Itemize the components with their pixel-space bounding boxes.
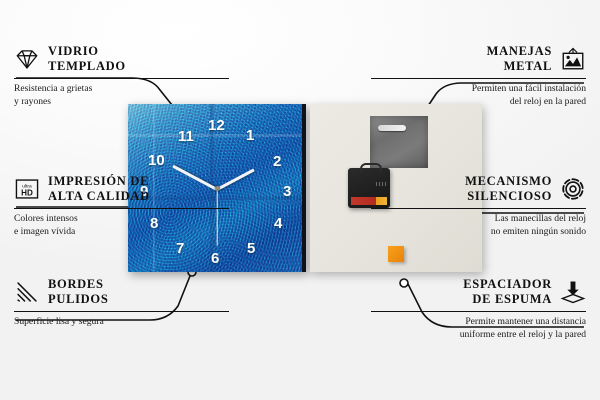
feature-title: IMPRESIÓN DE ALTA CALIDAD xyxy=(48,174,150,205)
feature-description: Superficie lisa y segura xyxy=(14,312,229,328)
feature-bordes-pulidos: BORDES PULIDOS Superficie lisa y segura xyxy=(14,277,229,329)
svg-text:HD: HD xyxy=(21,189,33,198)
clock-numeral-2: 2 xyxy=(273,154,281,169)
clock-numeral-1: 1 xyxy=(246,128,254,143)
feature-title: VIDRIO TEMPLADO xyxy=(48,44,126,75)
hanger-slot xyxy=(378,125,406,131)
clock-numeral-11: 11 xyxy=(178,129,194,144)
clock-numeral-4: 4 xyxy=(274,216,282,231)
feature-description: Colores intensos e imagen vívida xyxy=(14,209,229,238)
diamond-icon xyxy=(14,46,40,72)
polished-edge-icon xyxy=(14,279,40,305)
clock-numeral-12: 12 xyxy=(208,118,225,133)
feature-impresion-alta-calidad: ultra HD IMPRESIÓN DE ALTA CALIDAD Color… xyxy=(14,174,229,238)
clock-numeral-7: 7 xyxy=(176,241,184,256)
feature-title: BORDES PULIDOS xyxy=(48,277,108,308)
feature-espaciador-de-espuma: ESPACIADOR DE ESPUMA Permite mantener un… xyxy=(371,277,586,341)
feature-description: Permite mantener una distancia uniforme … xyxy=(371,312,586,341)
feature-mecanismo-silencioso: MECANISMO SILENCIOSO Las manecillas del … xyxy=(371,174,586,238)
feature-title: MECANISMO SILENCIOSO xyxy=(465,174,552,205)
feature-vidrio-templado: VIDRIO TEMPLADO Resistencia a grietas y … xyxy=(14,44,229,108)
clock-numeral-6: 6 xyxy=(211,251,219,266)
feature-description: Las manecillas del reloj no emiten ningú… xyxy=(371,209,586,238)
clock-panel-edge xyxy=(302,104,306,272)
feature-manejas-metal: MANEJAS METAL Permiten una fácil instala… xyxy=(371,44,586,108)
picture-frame-icon xyxy=(560,46,586,72)
feature-description: Permiten una fácil instalación del reloj… xyxy=(371,79,586,108)
clock-numeral-3: 3 xyxy=(283,184,291,199)
feature-description: Resistencia a grietas y rayones xyxy=(14,79,229,108)
feature-title: MANEJAS METAL xyxy=(487,44,552,75)
feature-title: ESPACIADOR DE ESPUMA xyxy=(463,277,552,308)
clock-numeral-5: 5 xyxy=(247,241,255,256)
foam-spacer-icon xyxy=(560,279,586,305)
mechanism-hanger-loop xyxy=(360,163,382,173)
ultra-hd-icon: ultra HD xyxy=(14,176,40,202)
clock-numeral-10: 10 xyxy=(148,153,165,168)
hanger-plate xyxy=(370,116,428,168)
gear-icon xyxy=(560,176,586,202)
foam-spacer-sample xyxy=(388,246,404,262)
infographic-canvas: 12 1 2 3 4 5 6 7 8 9 10 11 xyxy=(0,0,600,400)
